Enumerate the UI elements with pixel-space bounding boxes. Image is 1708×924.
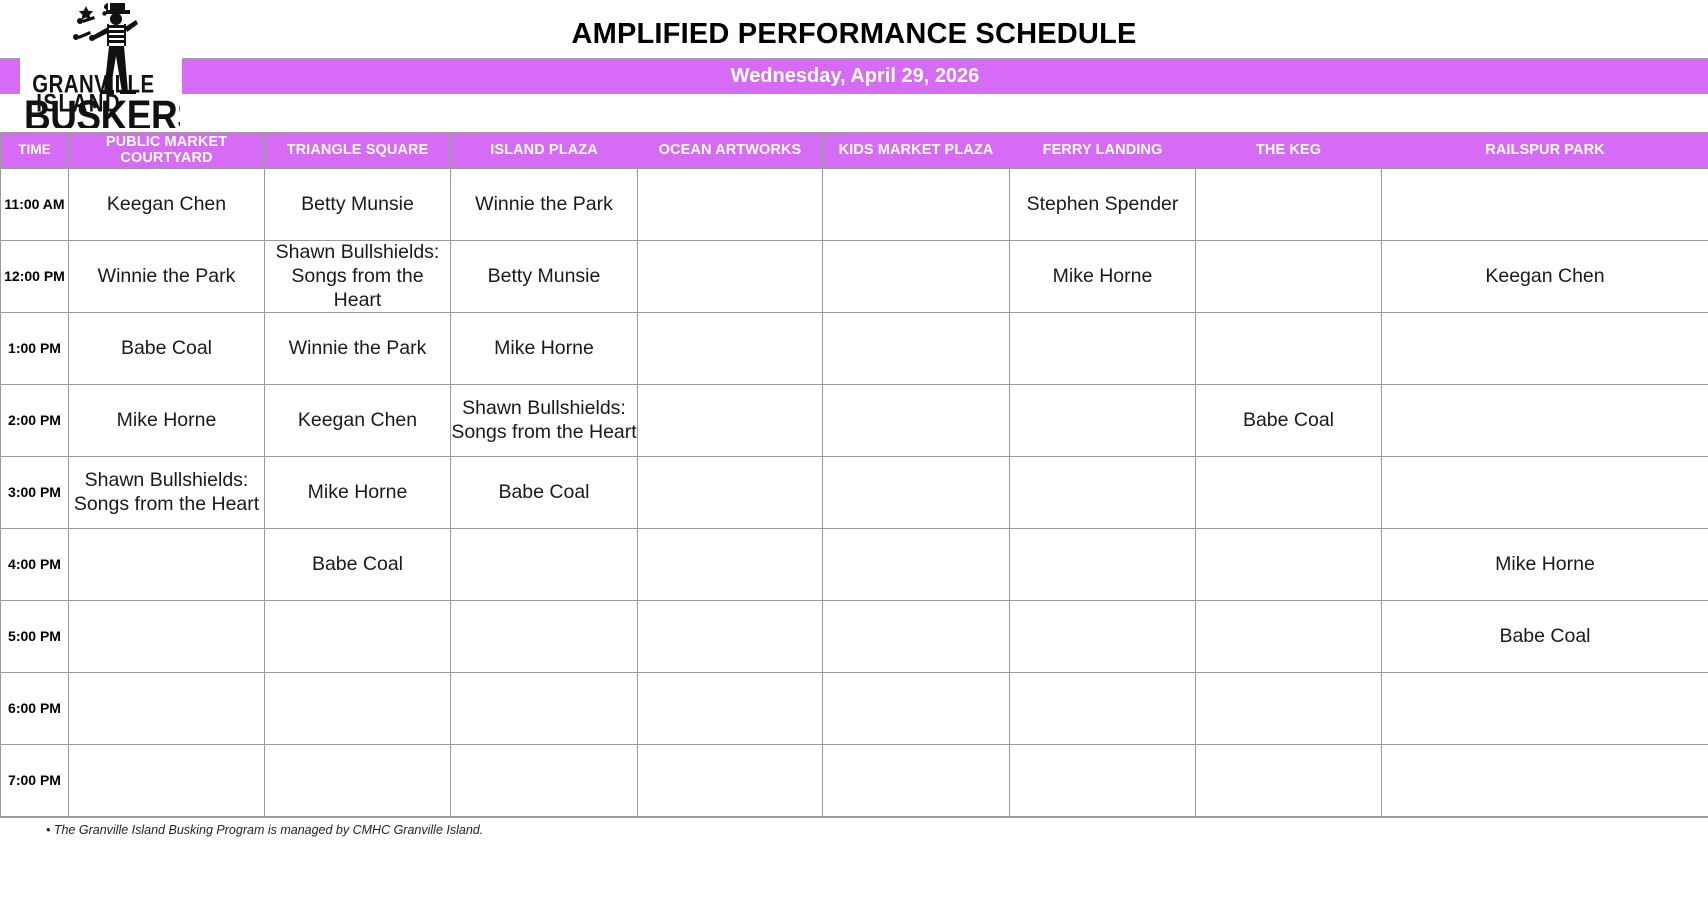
performance-cell [451, 745, 638, 817]
performance-cell [1010, 601, 1196, 673]
page-footer: • The Granville Island Busking Program i… [0, 817, 1708, 845]
performance-cell [265, 673, 451, 745]
table-row: 3:00 PMShawn Bullshields: Songs from the… [1, 457, 1708, 529]
date-banner-text: Wednesday, April 29, 2026 [731, 65, 980, 88]
performance-cell [1382, 169, 1708, 241]
performance-cell [823, 673, 1010, 745]
performance-cell: Winnie the Park [451, 169, 638, 241]
performance-cell: Keegan Chen [1382, 241, 1708, 313]
performance-cell [451, 529, 638, 601]
table-body: 11:00 AMKeegan ChenBetty MunsieWinnie th… [1, 169, 1708, 817]
performance-cell [1010, 457, 1196, 529]
time-cell: 4:00 PM [1, 529, 69, 601]
page-title: AMPLIFIED PERFORMANCE SCHEDULE [0, 18, 1708, 51]
performance-cell: Mike Horne [1010, 241, 1196, 313]
performance-cell: Betty Munsie [265, 169, 451, 241]
performance-cell [1196, 169, 1382, 241]
performance-cell: Keegan Chen [69, 169, 265, 241]
time-cell: 1:00 PM [1, 313, 69, 385]
column-header-ocean-artworks: OCEAN ARTWORKS [638, 133, 823, 169]
column-header-triangle-square: TRIANGLE SQUARE [265, 133, 451, 169]
date-banner-accent [0, 58, 20, 94]
column-header-railspur-park: RAILSPUR PARK [1382, 133, 1708, 169]
performance-cell [1010, 745, 1196, 817]
column-header-public-market-courtyard: PUBLIC MARKET COURTYARD [69, 133, 265, 169]
performance-cell [1382, 745, 1708, 817]
performance-cell: Babe Coal [1382, 601, 1708, 673]
performance-cell [69, 601, 265, 673]
performance-cell [1196, 601, 1382, 673]
page-header: GRANVILLE ISLAND BUSKERS AMPLIFIED PERFO… [0, 0, 1708, 132]
performance-cell: Shawn Bullshields: Songs from the Heart [451, 385, 638, 457]
performance-cell [69, 745, 265, 817]
table-row: 2:00 PMMike HorneKeegan ChenShawn Bullsh… [1, 385, 1708, 457]
performance-cell [823, 241, 1010, 313]
time-cell: 12:00 PM [1, 241, 69, 313]
performance-cell: Winnie the Park [265, 313, 451, 385]
performance-cell [1382, 385, 1708, 457]
performance-cell [451, 673, 638, 745]
performance-cell [638, 169, 823, 241]
performance-cell: Shawn Bullshields: Songs from the Heart [265, 241, 451, 313]
performance-cell [823, 457, 1010, 529]
table-row: 5:00 PMBabe Coal [1, 601, 1708, 673]
table-row: 1:00 PMBabe CoalWinnie the ParkMike Horn… [1, 313, 1708, 385]
performance-cell [638, 313, 823, 385]
performance-cell [1010, 673, 1196, 745]
performance-cell [265, 601, 451, 673]
table-row: 6:00 PM [1, 673, 1708, 745]
time-cell: 3:00 PM [1, 457, 69, 529]
column-header-island-plaza: ISLAND PLAZA [451, 133, 638, 169]
performance-cell [638, 457, 823, 529]
performance-cell [638, 385, 823, 457]
performance-cell [69, 529, 265, 601]
performance-cell [1010, 385, 1196, 457]
performance-cell [1196, 673, 1382, 745]
performance-cell [823, 529, 1010, 601]
column-header-ferry-landing: FERRY LANDING [1010, 133, 1196, 169]
performance-cell: Babe Coal [265, 529, 451, 601]
table-header-row: TIME PUBLIC MARKET COURTYARD TRIANGLE SQ… [1, 133, 1708, 169]
performance-cell [1196, 313, 1382, 385]
column-header-the-keg: THE KEG [1196, 133, 1382, 169]
performance-cell [823, 745, 1010, 817]
performance-cell: Mike Horne [69, 385, 265, 457]
performance-cell [451, 601, 638, 673]
performance-cell [823, 313, 1010, 385]
schedule-page: GRANVILLE ISLAND BUSKERS AMPLIFIED PERFO… [0, 0, 1708, 924]
performance-cell: Mike Horne [451, 313, 638, 385]
logo-line-buskers: BUSKERS [24, 93, 180, 128]
performance-cell [638, 745, 823, 817]
performance-cell [1382, 457, 1708, 529]
performance-cell [823, 601, 1010, 673]
performance-cell [1196, 457, 1382, 529]
performance-cell [638, 529, 823, 601]
table-row: 7:00 PM [1, 745, 1708, 817]
performance-cell [638, 601, 823, 673]
column-header-kids-market-plaza: KIDS MARKET PLAZA [823, 133, 1010, 169]
performance-cell: Winnie the Park [69, 241, 265, 313]
performance-cell: Mike Horne [265, 457, 451, 529]
performance-cell: Stephen Spender [1010, 169, 1196, 241]
date-banner: Wednesday, April 29, 2026 [182, 58, 1708, 94]
performance-cell [1196, 241, 1382, 313]
performance-cell [69, 673, 265, 745]
table-row: 4:00 PMBabe CoalMike Horne [1, 529, 1708, 601]
performance-cell [1196, 745, 1382, 817]
time-cell: 11:00 AM [1, 169, 69, 241]
time-cell: 2:00 PM [1, 385, 69, 457]
performance-cell: Mike Horne [1382, 529, 1708, 601]
column-header-time: TIME [1, 133, 69, 169]
performance-cell [265, 745, 451, 817]
performance-cell: Shawn Bullshields: Songs from the Heart [69, 457, 265, 529]
performance-cell [823, 385, 1010, 457]
performance-cell [1382, 673, 1708, 745]
performance-cell [1196, 529, 1382, 601]
performance-cell [1010, 529, 1196, 601]
performance-cell [638, 241, 823, 313]
time-cell: 7:00 PM [1, 745, 69, 817]
performance-cell [1010, 313, 1196, 385]
performance-cell: Babe Coal [451, 457, 638, 529]
performance-cell: Betty Munsie [451, 241, 638, 313]
performance-cell [823, 169, 1010, 241]
time-cell: 6:00 PM [1, 673, 69, 745]
performance-cell: Keegan Chen [265, 385, 451, 457]
performance-cell: Babe Coal [69, 313, 265, 385]
table-row: 12:00 PMWinnie the ParkShawn Bullshields… [1, 241, 1708, 313]
performance-cell: Babe Coal [1196, 385, 1382, 457]
performance-cell [1382, 313, 1708, 385]
time-cell: 5:00 PM [1, 601, 69, 673]
footer-note: • The Granville Island Busking Program i… [46, 823, 483, 837]
table-row: 11:00 AMKeegan ChenBetty MunsieWinnie th… [1, 169, 1708, 241]
performance-schedule-table: TIME PUBLIC MARKET COURTYARD TRIANGLE SQ… [0, 132, 1708, 817]
performance-cell [638, 673, 823, 745]
